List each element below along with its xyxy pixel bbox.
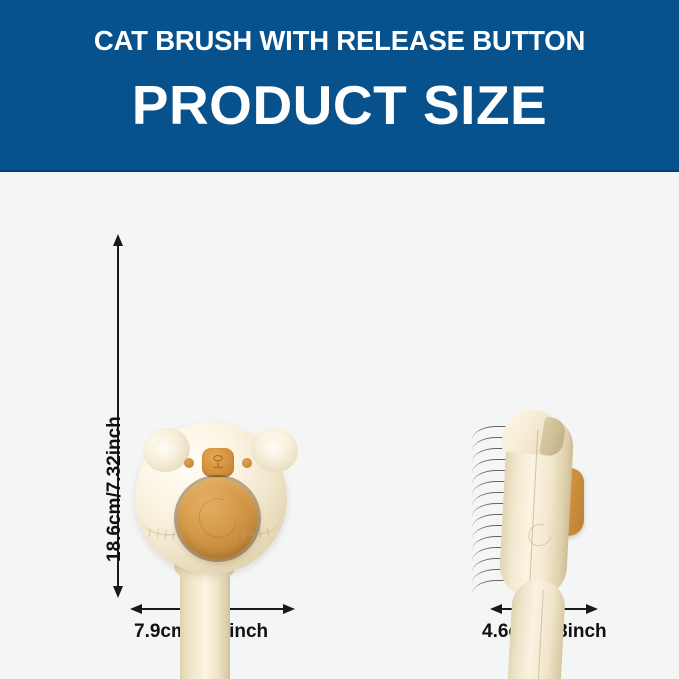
bear-ear-right-inner <box>256 433 292 467</box>
header-banner: CAT BRUSH WITH RELEASE BUTTON PRODUCT SI… <box>0 0 679 172</box>
product-front-view <box>128 404 308 679</box>
product-side-view <box>470 412 640 679</box>
bear-snout-glyph-icon <box>210 455 226 473</box>
bear-ear-left-inner <box>148 433 184 467</box>
height-dimension-label: 18.6cm/7.32inch <box>104 416 126 562</box>
front-bear-head <box>135 422 287 574</box>
height-arrow-up-icon <box>113 234 123 246</box>
bear-ear-right-icon <box>245 421 304 478</box>
bear-ear-left-icon <box>137 421 196 478</box>
side-handle <box>503 579 567 679</box>
bear-nose-badge-icon <box>202 448 234 477</box>
height-arrow-down-icon <box>113 586 123 598</box>
bear-eye-left-icon <box>184 458 194 468</box>
product-size-infographic: CAT BRUSH WITH RELEASE BUTTON PRODUCT SI… <box>0 0 679 679</box>
banner-subtitle: PRODUCT SIZE <box>0 78 679 133</box>
banner-title: CAT BRUSH WITH RELEASE BUTTON <box>0 27 679 55</box>
product-stage: 18.6cm/7.32inch 7.9cm/3.11inch 4.6cm/1.8… <box>0 172 679 679</box>
bear-eye-right-icon <box>242 458 252 468</box>
